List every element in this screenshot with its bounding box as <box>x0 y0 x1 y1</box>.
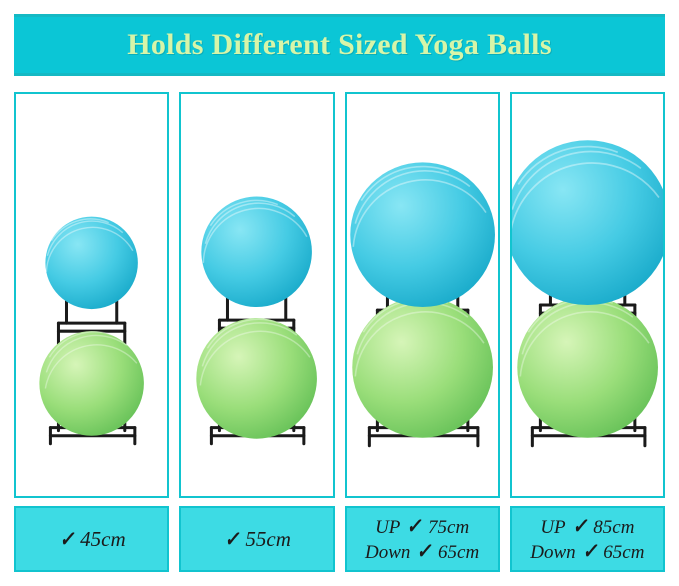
caption-prefix: UP <box>540 517 565 539</box>
header-banner: Holds Different Sized Yoga Balls <box>14 14 665 76</box>
panel-75-65cm: UP ✓ 75cm Down ✓ 65cm <box>345 92 500 572</box>
page-title: Holds Different Sized Yoga Balls <box>127 28 552 62</box>
caption-value: 65cm <box>603 542 644 564</box>
caption-line: Down ✓ 65cm <box>530 539 644 564</box>
panels-row: ✓ 45cm <box>14 92 665 572</box>
bottom-ball <box>517 297 658 438</box>
panel-85-65cm-illustration <box>510 92 665 498</box>
panel-75-65cm-caption: UP ✓ 75cm Down ✓ 65cm <box>345 506 500 572</box>
bottom-ball <box>197 318 318 439</box>
panel-85-65cm-caption: UP ✓ 85cm Down ✓ 65cm <box>510 506 665 572</box>
check-icon: ✓ <box>224 527 239 551</box>
top-ball <box>350 162 495 307</box>
yoga-ball-rack-illustration <box>16 94 167 496</box>
panel-45cm-illustration <box>14 92 169 498</box>
caption-prefix: UP <box>375 517 400 539</box>
check-icon: ✓ <box>59 527 74 551</box>
caption-prefix: Down <box>365 542 410 564</box>
check-icon: ✓ <box>582 539 597 563</box>
caption-line: ✓ 55cm <box>223 527 291 551</box>
panel-55cm: ✓ 55cm <box>179 92 334 572</box>
yoga-ball-rack-illustration <box>347 94 498 496</box>
caption-value: 75cm <box>428 517 469 539</box>
bottom-ball <box>352 297 493 438</box>
caption-value: 55cm <box>245 527 291 551</box>
check-icon: ✓ <box>417 539 432 563</box>
top-ball <box>512 140 663 305</box>
caption-value: 85cm <box>593 517 634 539</box>
check-icon: ✓ <box>407 514 422 538</box>
panel-85-65cm: UP ✓ 85cm Down ✓ 65cm <box>510 92 665 572</box>
caption-line: UP ✓ 75cm <box>375 514 469 539</box>
yoga-ball-rack-illustration <box>181 94 332 496</box>
bottom-ball <box>39 331 144 436</box>
caption-line: Down ✓ 65cm <box>365 539 479 564</box>
panel-45cm-caption: ✓ 45cm <box>14 506 169 572</box>
panel-55cm-caption: ✓ 55cm <box>179 506 334 572</box>
caption-line: ✓ 45cm <box>58 527 126 551</box>
top-ball <box>45 217 137 309</box>
yoga-ball-rack-illustration <box>512 94 663 496</box>
panel-75-65cm-illustration <box>345 92 500 498</box>
panel-45cm: ✓ 45cm <box>14 92 169 572</box>
check-icon: ✓ <box>572 514 587 538</box>
top-ball <box>202 197 313 308</box>
caption-prefix: Down <box>530 542 575 564</box>
panel-55cm-illustration <box>179 92 334 498</box>
caption-line: UP ✓ 85cm <box>540 514 634 539</box>
caption-value: 45cm <box>80 527 126 551</box>
caption-value: 65cm <box>438 542 479 564</box>
product-infographic: Holds Different Sized Yoga Balls <box>0 0 679 586</box>
